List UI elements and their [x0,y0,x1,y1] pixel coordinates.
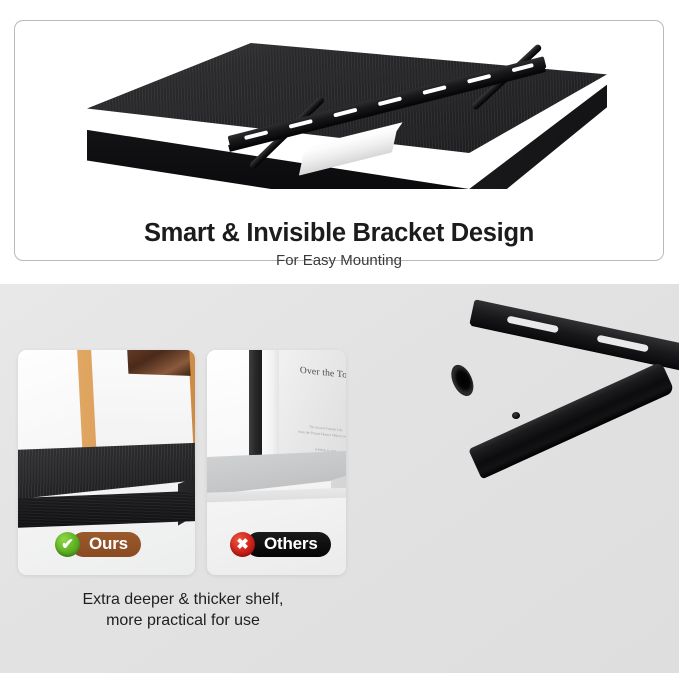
page-title: Smart & Invisible Bracket Design [15,219,663,248]
comparison-caption-line2: more practical for use [8,610,358,631]
comparison-card-others: WORLD ECONOMIC FORUM ART Over the Top Th… [207,350,346,575]
bracket-slot [467,74,491,84]
comparison-caption: Extra deeper & thicker shelf, more pract… [8,589,358,631]
bracket-rod-screw-hole [512,412,520,419]
bracket-slot [422,85,446,95]
book-white-spine: ART [262,350,279,469]
status-badge-ours: ✔ Ours [55,531,141,557]
bracket-slot [378,96,402,106]
bracket-slot [289,119,313,129]
top-feature-panel: Smart & Invisible Bracket Design For Eas… [0,0,679,284]
bottom-comparison-panel: ✔ Ours WORLD ECONOMIC FORUM ART Over the… [0,284,679,673]
bracket-slot [507,316,559,334]
status-badge-others: ✖ Others [230,531,331,557]
bracket-slot [597,335,649,353]
bracket-slot [512,63,534,72]
comparison-caption-line1: Extra deeper & thicker shelf, [8,589,358,610]
ours-shelf-top [18,442,195,500]
top-feature-card: Smart & Invisible Bracket Design For Eas… [14,20,664,261]
product-infographic: Smart & Invisible Bracket Design For Eas… [0,0,679,673]
bracket-rod [468,361,675,479]
check-icon: ✔ [55,532,80,557]
bracket-slot [333,108,357,118]
book-dark-spine: WORLD ECONOMIC FORUM [249,350,262,469]
comparison-card-ours: ✔ Ours [18,350,195,575]
bracket-closeup-photo [346,284,679,594]
cross-icon: ✖ [230,532,255,557]
page-subtitle: For Easy Mounting [15,252,663,269]
shelf-hero-illustration [33,43,647,218]
bracket-slot [244,130,268,140]
picture-frame-photo [127,350,191,376]
bracket-rod-open-end [447,361,478,399]
book-title-text: Over the Top [291,365,346,382]
badge-label-ours: Ours [71,532,141,557]
badge-label-others: Others [246,532,331,557]
